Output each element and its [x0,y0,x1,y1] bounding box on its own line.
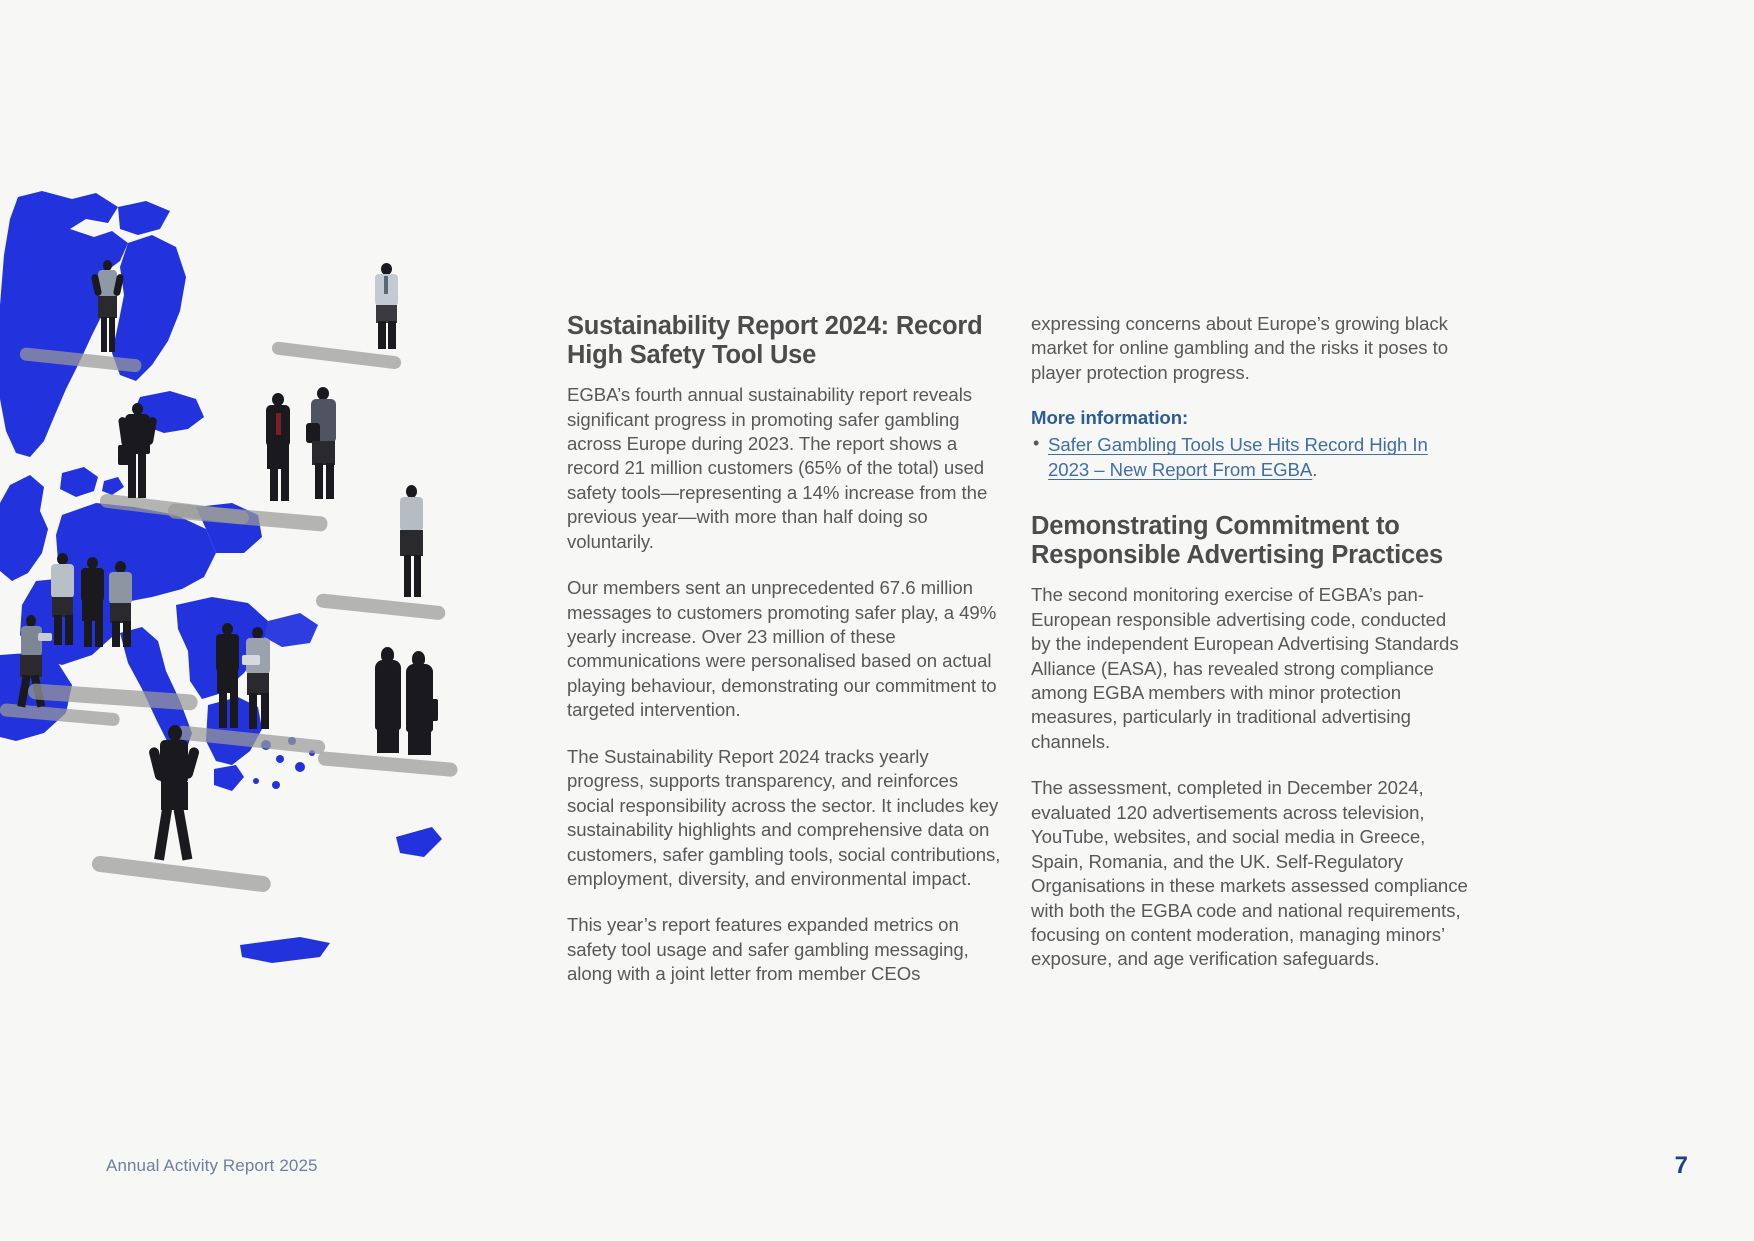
link-trailing-punctuation: . [1312,459,1317,480]
more-information-label: More information: [1031,407,1468,429]
person-silhouette [118,403,158,498]
left-paragraph-4: This year’s report features expanded met… [567,913,1004,986]
right-column-heading: Demonstrating Commitment to Responsible … [1031,512,1468,569]
person-silhouette [92,260,122,352]
left-paragraph-1: EGBA’s fourth annual sustainability repo… [567,383,1004,554]
person-silhouette [150,725,198,860]
footer-report-label: Annual Activity Report 2025 [106,1156,318,1176]
right-text-column: expressing concerns about Europe’s growi… [1031,312,1468,972]
person-silhouette [106,561,134,647]
person-silhouette [394,485,428,597]
report-page: Sustainability Report 2024: Record High … [0,0,1754,1241]
person-silhouette [306,387,340,499]
right-paragraph-2: The assessment, completed in December 20… [1031,776,1468,972]
europe-map-illustration [0,185,515,995]
person-silhouette [242,627,274,729]
page-number: 7 [1675,1152,1688,1180]
person-silhouette [78,557,106,647]
left-paragraph-3: The Sustainability Report 2024 tracks ye… [567,745,1004,892]
left-paragraph-2: Our members sent an unprecedented 67.6 m… [567,576,1004,723]
person-silhouette [262,393,294,501]
person-silhouette [370,263,402,349]
safer-gambling-report-link[interactable]: Safer Gambling Tools Use Hits Record Hig… [1048,434,1428,479]
list-item: Safer Gambling Tools Use Hits Record Hig… [1031,433,1468,482]
right-continuation-paragraph: expressing concerns about Europe’s growi… [1031,312,1468,385]
left-text-column: Sustainability Report 2024: Record High … [567,312,1004,987]
left-column-heading: Sustainability Report 2024: Record High … [567,312,1004,369]
person-silhouette [212,623,242,728]
person-silhouette [48,553,76,645]
right-paragraph-1: The second monitoring exercise of EGBA’s… [1031,583,1468,754]
more-information-link-list: Safer Gambling Tools Use Hits Record Hig… [1031,433,1468,482]
person-silhouette [400,651,438,755]
